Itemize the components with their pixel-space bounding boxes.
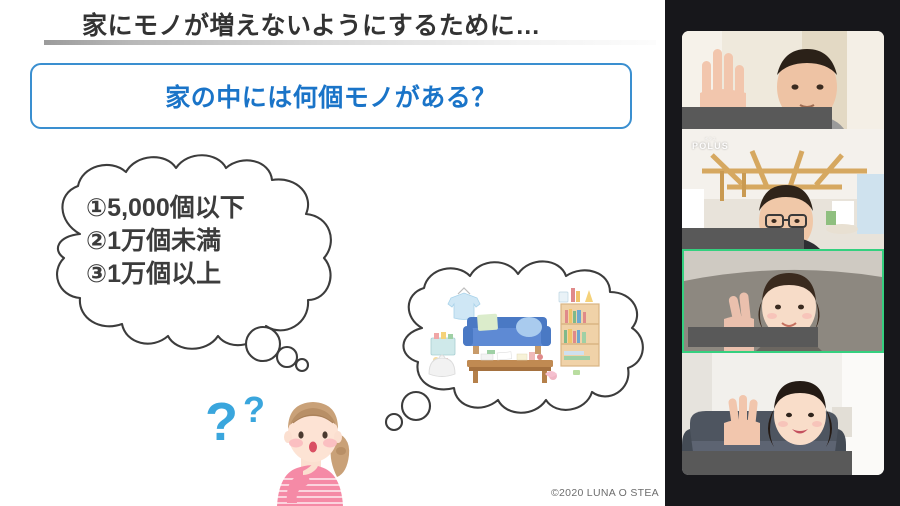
answer-options-list: ①5,000個以下 ②1万個未満 ③1万個以上 bbox=[86, 192, 245, 291]
page-title: 家にモノが増えないようにするために… bbox=[82, 6, 541, 42]
sofa-icon bbox=[463, 314, 551, 354]
svg-text:?: ? bbox=[205, 392, 238, 452]
video-participants-panel: ポラス POLUS bbox=[665, 0, 900, 506]
list-item: ③1万個以上 bbox=[86, 258, 245, 291]
participant-name-bar bbox=[688, 327, 818, 347]
copyright-text: ©2020 LUNA O STEA bbox=[551, 487, 659, 499]
video-tile-participant-2[interactable]: ポラス POLUS bbox=[682, 129, 884, 249]
bookshelf-icon bbox=[559, 288, 599, 366]
participant-name-bar bbox=[682, 107, 832, 129]
video-tile-participant-1[interactable] bbox=[682, 31, 884, 129]
slide-content-area: 家にモノが増えないようにするために… 家の中には何個モノがある？ ①5,000個… bbox=[0, 0, 665, 506]
participant-name-bar bbox=[682, 228, 804, 249]
polus-watermark: ポラス POLUS bbox=[692, 136, 729, 151]
question-text: 家の中には何個モノがある？ bbox=[165, 78, 497, 114]
video-tile-participant-4[interactable] bbox=[682, 353, 884, 475]
video-tile-participant-3[interactable] bbox=[682, 249, 884, 353]
svg-text:?: ? bbox=[243, 389, 265, 430]
question-callout-box: 家の中には何個モノがある？ bbox=[30, 63, 632, 129]
coffee-table-icon bbox=[467, 350, 553, 383]
slide-presentation-screen: 家にモノが増えないようにするために… 家の中には何個モノがある？ ①5,000個… bbox=[0, 0, 900, 506]
list-item: ②1万個未満 bbox=[86, 225, 245, 258]
title-divider bbox=[44, 40, 656, 45]
participant-name-bar bbox=[682, 451, 852, 475]
living-room-illustration bbox=[425, 282, 605, 387]
list-item: ①5,000個以下 bbox=[86, 192, 245, 225]
thinking-woman-illustration bbox=[263, 385, 368, 506]
polus-watermark-label: POLUS bbox=[692, 141, 729, 151]
hanging-shirt-icon bbox=[448, 288, 480, 320]
beanbag-icon bbox=[429, 355, 455, 377]
